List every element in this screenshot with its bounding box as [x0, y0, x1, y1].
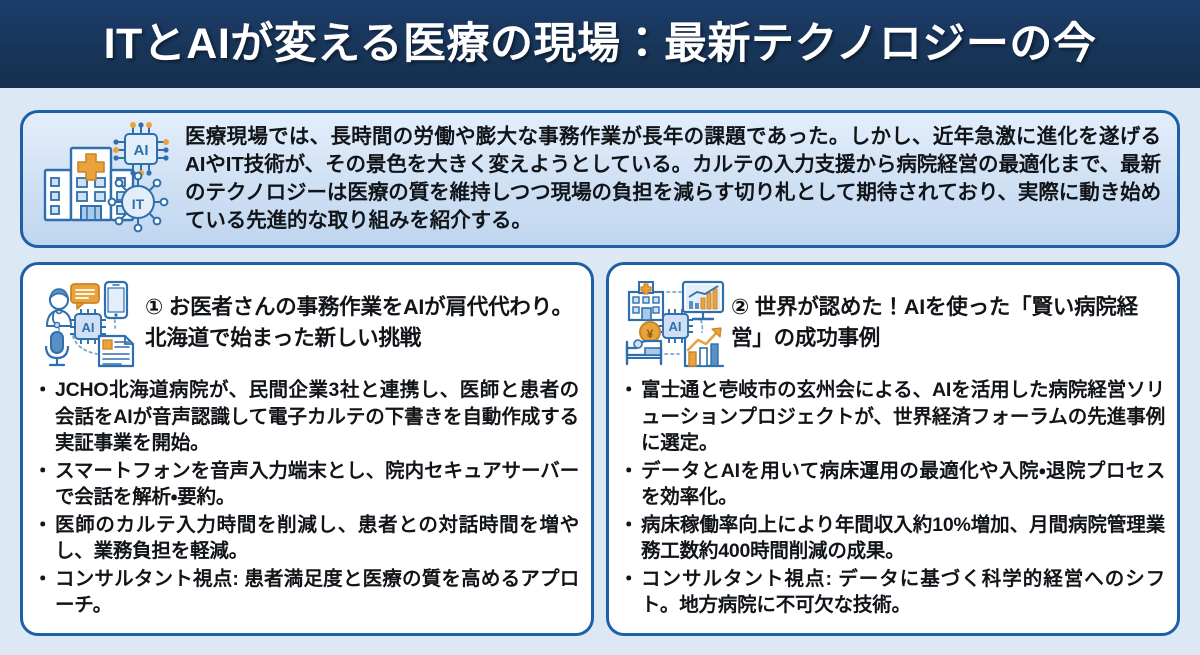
list-item: 医師のカルテ入力時間を削減し、患者との対話時間を増やし、業務負担を軽減。 [35, 512, 579, 565]
hospital-ai-it-icon: AI IT [37, 120, 177, 238]
infographic-page: ITとAIが変える医療の現場：最新テクノロジーの今 [0, 0, 1200, 655]
card-hospital-management-ai: AI ¥ [606, 262, 1180, 636]
svg-text:¥: ¥ [647, 327, 654, 341]
hospital-analytics-ai-bed-icon: AI ¥ [621, 277, 729, 369]
card-medical-clerical-ai: AI [20, 262, 594, 636]
cards-row: AI [20, 262, 1180, 636]
card-title: ② 世界が認めた！AIを使った「賢い病院経営」の成功事例 [729, 292, 1165, 353]
svg-text:AI: AI [82, 320, 95, 335]
doctor-voice-ai-document-icon: AI [35, 277, 143, 369]
card-header: AI ¥ [621, 275, 1165, 371]
svg-text:IT: IT [132, 196, 145, 212]
svg-text:AI: AI [134, 142, 149, 159]
list-item: JCHO北海道病院が、民間企業3社と連携し、医師と患者の会話をAIが音声認識して… [35, 377, 579, 457]
page-title: ITとAIが変える医療の現場：最新テクノロジーの今 [104, 23, 1097, 66]
intro-summary-box: AI IT 医療現場では、長時間の労働や膨大な事務作業が長年の課 [20, 110, 1180, 248]
list-item: コンサルタント視点: 患者満足度と医療の質を高めるアプローチ。 [35, 566, 579, 619]
page-header: ITとAIが変える医療の現場：最新テクノロジーの今 [0, 0, 1200, 88]
list-item: 富士通と壱岐市の玄州会による、AIを活用した病院経営ソリューションプロジェクトが… [621, 377, 1165, 457]
card-header: AI [35, 275, 579, 371]
card-bullet-list: JCHO北海道病院が、民間企業3社と連携し、医師と患者の会話をAIが音声認識して… [35, 377, 579, 620]
list-item: 病床稼働率向上により年間収入約10%増加、月間病院管理業務工数約400時間削減の… [621, 512, 1165, 565]
intro-paragraph: 医療現場では、長時間の労働や膨大な事務作業が長年の課題であった。しかし、近年急激… [185, 123, 1161, 235]
card-bullet-list: 富士通と壱岐市の玄州会による、AIを活用した病院経営ソリューションプロジェクトが… [621, 377, 1165, 620]
list-item: コンサルタント視点: データに基づく科学的経営へのシフト。地方病院に不可欠な技術… [621, 566, 1165, 619]
list-item: データとAIを用いて病床運用の最適化や入院・退院プロセスを効率化。 [621, 458, 1165, 511]
card-title: ① お医者さんの事務作業をAIが肩代代わり。北海道で始まった新しい挑戦 [143, 292, 579, 353]
list-item: スマートフォンを音声入力端末とし、院内セキュアサーバーで会話を解析・要約。 [35, 458, 579, 511]
svg-text:AI: AI [669, 319, 682, 334]
